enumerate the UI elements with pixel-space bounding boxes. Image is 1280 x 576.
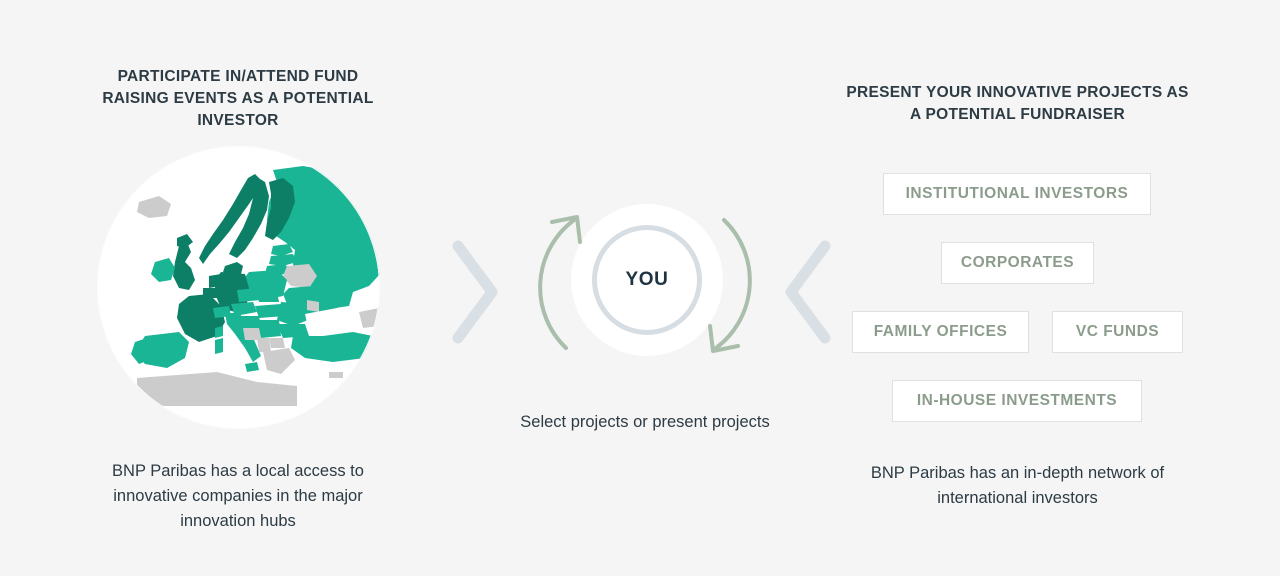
- country-albania: [257, 338, 271, 352]
- center-column-caption: Select projects or present projects: [520, 410, 770, 435]
- country-czechia: [237, 288, 261, 302]
- europe-map-svg: [97, 146, 380, 429]
- country-north-macedonia: [269, 338, 285, 348]
- country-netherlands: [209, 274, 221, 288]
- left-column-title: PARTICIPATE IN/ATTEND FUND RAISING EVENT…: [88, 66, 388, 132]
- center-wheel: YOU: [530, 180, 760, 387]
- tag-corporates[interactable]: CORPORATES: [941, 242, 1094, 284]
- europe-map: [97, 146, 380, 429]
- tag-family-offices[interactable]: FAMILY OFFICES: [852, 311, 1029, 353]
- left-column-caption: BNP Paribas has a local access to innova…: [88, 459, 388, 534]
- country-moldova: [307, 300, 319, 312]
- right-column-caption: BNP Paribas has an in-depth network of i…: [845, 461, 1190, 511]
- country-croatia: [237, 316, 261, 330]
- country-corsica: [215, 326, 223, 338]
- chevron-right-icon: [452, 240, 498, 344]
- country-sardinia: [215, 338, 223, 354]
- country-switzerland: [213, 306, 231, 318]
- country-serbia: [257, 320, 281, 338]
- right-column-title: PRESENT YOUR INNOVATIVE PROJECTS AS A PO…: [845, 82, 1190, 126]
- tag-vc-funds[interactable]: VC FUNDS: [1052, 311, 1183, 353]
- wheel-label: YOU: [571, 204, 723, 356]
- tag-institutional-investors[interactable]: INSTITUTIONAL INVESTORS: [883, 173, 1151, 215]
- infographic-canvas: PARTICIPATE IN/ATTEND FUND RAISING EVENT…: [0, 0, 1280, 576]
- country-cyprus: [329, 372, 343, 378]
- country-slovakia: [257, 292, 279, 302]
- chevron-left-icon: [785, 240, 831, 344]
- tag-in-house-investments[interactable]: IN-HOUSE INVESTMENTS: [892, 380, 1142, 422]
